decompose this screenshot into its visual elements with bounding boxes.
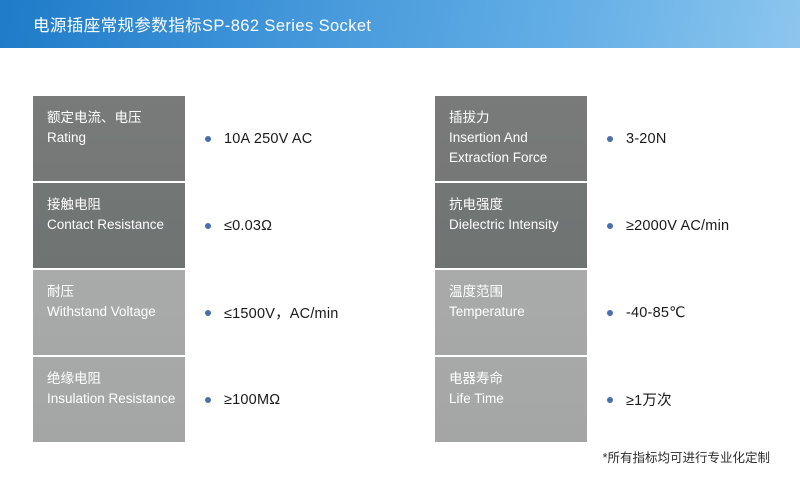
spec-value-temperature: -40-85℃: [607, 270, 686, 355]
spec-value-dielectric-intensity: ≥2000V AC/min: [607, 183, 729, 268]
bullet-icon: [205, 136, 211, 142]
spec-label-cn: 额定电流、电压: [47, 108, 185, 128]
bullet-icon: [607, 397, 613, 403]
bullet-icon: [607, 310, 613, 316]
spec-row: 额定电流、电压 Rating 10A 250V AC: [33, 96, 399, 181]
spec-value-withstand-voltage: ≤1500V，AC/min: [205, 270, 339, 355]
spec-label-cn: 抗电强度: [449, 195, 587, 215]
spec-label-en: Life Time: [449, 389, 587, 409]
spec-label-insertion-force: 插拔力 Insertion And Extraction Force: [435, 96, 587, 181]
spec-row: 插拔力 Insertion And Extraction Force 3-20N: [435, 96, 800, 181]
bullet-icon: [607, 223, 613, 229]
spec-table: 额定电流、电压 Rating 10A 250V AC 接触电阻 Contact …: [0, 48, 800, 479]
bullet-icon: [205, 310, 211, 316]
spec-label-cn: 温度范围: [449, 282, 587, 302]
spec-label-life-time: 电器寿命 Life Time: [435, 357, 587, 442]
spec-label-en: Insertion And Extraction Force: [449, 128, 587, 168]
spec-label-en: Withstand Voltage: [47, 302, 185, 322]
spec-row: 绝缘电阻 Insulation Resistance ≥100MΩ: [33, 357, 399, 442]
spec-row: 温度范围 Temperature -40-85℃: [435, 270, 800, 355]
spec-label-insulation-resistance: 绝缘电阻 Insulation Resistance: [33, 357, 185, 442]
spec-value-text: ≥2000V AC/min: [626, 218, 729, 234]
spec-value-text: ≤0.03Ω: [224, 218, 272, 234]
spec-column-right: 插拔力 Insertion And Extraction Force 3-20N…: [435, 96, 800, 442]
spec-value-text: ≥100MΩ: [224, 392, 280, 408]
spec-value-insertion-force: 3-20N: [607, 96, 667, 181]
footnote-text: *所有指标均可进行专业化定制: [603, 447, 770, 466]
spec-label-cn: 电器寿命: [449, 369, 587, 389]
bullet-icon: [205, 223, 211, 229]
spec-label-cn: 绝缘电阻: [47, 369, 185, 389]
spec-label-contact-resistance: 接触电阻 Contact Resistance: [33, 183, 185, 268]
bullet-icon: [607, 136, 613, 142]
spec-value-text: ≤1500V，AC/min: [224, 302, 339, 323]
spec-column-left: 额定电流、电压 Rating 10A 250V AC 接触电阻 Contact …: [33, 96, 399, 442]
spec-row: 耐压 Withstand Voltage ≤1500V，AC/min: [33, 270, 399, 355]
spec-value-life-time: ≥1万次: [607, 357, 672, 442]
header-banner: 电源插座常规参数指标SP-862 Series Socket: [0, 0, 800, 48]
spec-label-en: Dielectric Intensity: [449, 215, 587, 235]
spec-value-text: -40-85℃: [626, 305, 686, 321]
spec-value-text: 10A 250V AC: [224, 131, 312, 147]
spec-label-rating: 额定电流、电压 Rating: [33, 96, 185, 181]
spec-label-cn: 耐压: [47, 282, 185, 302]
spec-row: 电器寿命 Life Time ≥1万次: [435, 357, 800, 442]
bullet-icon: [205, 397, 211, 403]
spec-label-en: Rating: [47, 128, 185, 148]
spec-value-contact-resistance: ≤0.03Ω: [205, 183, 272, 268]
spec-label-temperature: 温度范围 Temperature: [435, 270, 587, 355]
spec-label-cn: 接触电阻: [47, 195, 185, 215]
spec-label-dielectric-intensity: 抗电强度 Dielectric Intensity: [435, 183, 587, 268]
spec-label-en: Temperature: [449, 302, 587, 322]
spec-label-withstand-voltage: 耐压 Withstand Voltage: [33, 270, 185, 355]
spec-value-rating: 10A 250V AC: [205, 96, 312, 181]
spec-value-insulation-resistance: ≥100MΩ: [205, 357, 280, 442]
spec-label-cn: 插拔力: [449, 108, 587, 128]
spec-row: 抗电强度 Dielectric Intensity ≥2000V AC/min: [435, 183, 800, 268]
spec-label-en: Insulation Resistance: [47, 389, 185, 409]
spec-value-text: 3-20N: [626, 131, 667, 147]
spec-label-en: Contact Resistance: [47, 215, 185, 235]
page-title: 电源插座常规参数指标SP-862 Series Socket: [33, 12, 371, 36]
spec-value-text: ≥1万次: [626, 389, 672, 410]
spec-row: 接触电阻 Contact Resistance ≤0.03Ω: [33, 183, 399, 268]
